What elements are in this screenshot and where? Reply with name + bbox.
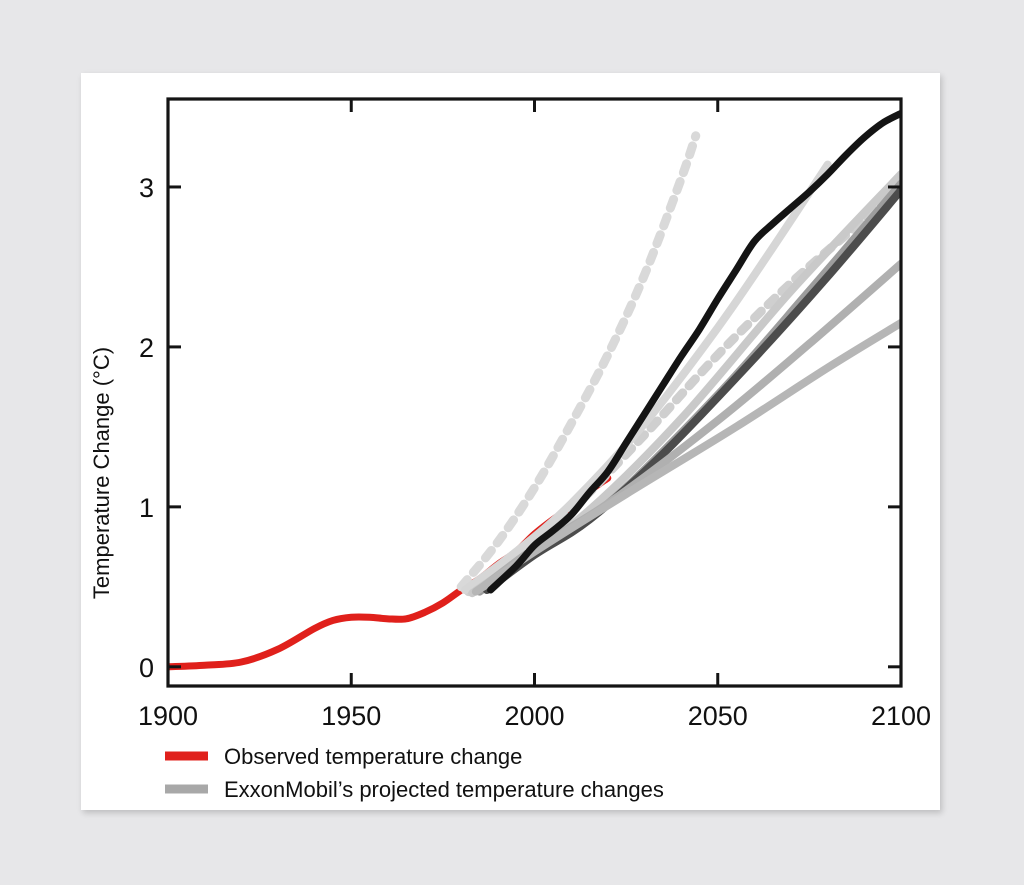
chart-legend: Observed temperature change ExxonMobil’s… [165,744,664,802]
y-tick-label: 3 [139,173,154,203]
x-tick-label: 1900 [138,701,198,731]
x-tick-label: 2050 [688,701,748,731]
y-tick-labels: 0123 [139,173,154,683]
y-tick-label: 0 [139,653,154,683]
figure-card: 19001950200020502100 0123 Temperature Ch… [81,73,940,810]
x-tick-label: 2000 [504,701,564,731]
legend-label-observed: Observed temperature change [224,744,522,769]
x-tick-label: 1950 [321,701,381,731]
legend-label-projection: ExxonMobil’s projected temperature chang… [224,777,664,802]
y-tick-label: 1 [139,493,154,523]
series-line-0 [168,478,608,667]
series-group [168,113,901,666]
x-tick-labels: 19001950200020502100 [138,701,931,731]
temperature-change-chart: 19001950200020502100 0123 Temperature Ch… [81,73,940,810]
y-tick-label: 2 [139,333,154,363]
x-tick-label: 2100 [871,701,931,731]
y-axis-title: Temperature Change (°C) [89,347,114,599]
